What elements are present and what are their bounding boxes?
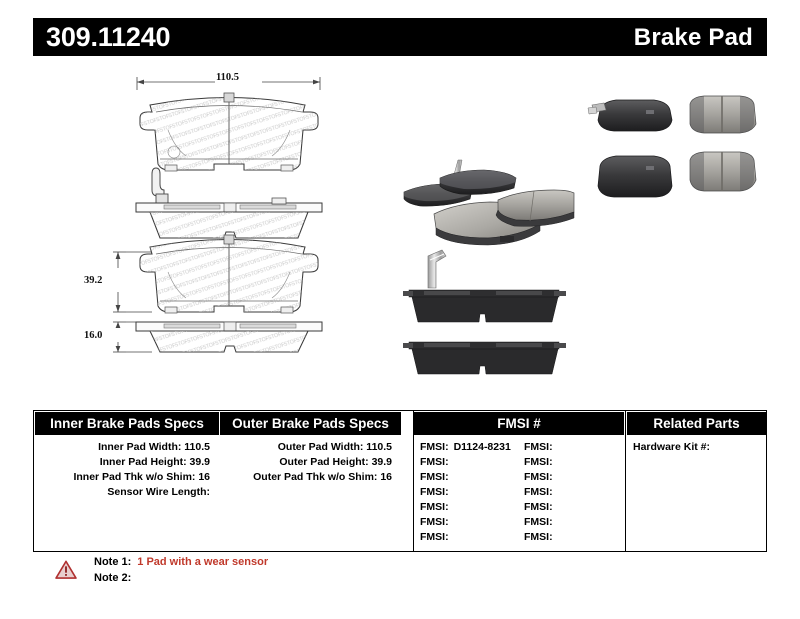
header-bar: 309.11240 Brake Pad <box>33 18 767 56</box>
table-header-inner: Inner Brake Pads Specs <box>35 412 219 435</box>
fmsi-label: FMSI: <box>420 486 449 498</box>
fmsi-row: FMSI: <box>524 471 558 483</box>
fmsi-row: FMSI: <box>420 516 454 528</box>
fmsi-label: FMSI: <box>420 531 449 543</box>
fmsi-label: FMSI: <box>420 501 449 513</box>
note-2: Note 2: <box>94 572 137 584</box>
table-divider-1 <box>413 411 414 551</box>
part-number: 309.11240 <box>46 22 170 53</box>
note-2-label: Note 2: <box>94 572 131 584</box>
fmsi-row: FMSI: <box>524 441 558 453</box>
dimension-height-label: 39.2 <box>84 275 102 286</box>
fmsi-label: FMSI: <box>420 471 449 483</box>
inner-pad-width: Inner Pad Width: 110.5 <box>98 441 210 453</box>
table-header-outer: Outer Brake Pads Specs <box>220 412 401 435</box>
drawings-svg: STOPTECH <box>0 60 800 405</box>
fmsi-row: FMSI: <box>524 531 558 543</box>
fmsi-label: FMSI: <box>524 441 553 453</box>
fmsi-label: FMSI: <box>524 456 553 468</box>
fmsi-row: FMSI: <box>420 531 454 543</box>
pad-plan-view-drawing <box>137 77 320 171</box>
specs-table: Inner Brake Pads Specs Outer Brake Pads … <box>33 410 767 552</box>
dimension-thickness-label: 16.0 <box>84 330 102 341</box>
fmsi-row: FMSI: <box>524 516 558 528</box>
pad-edge-view-sensor-drawing <box>136 168 322 238</box>
inner-pad-thickness: Inner Pad Thk w/o Shim: 16 <box>73 471 210 483</box>
fmsi-row: FMSI: <box>524 501 558 513</box>
fmsi-label: FMSI: <box>420 516 449 528</box>
note-1-label: Note 1: <box>94 556 131 568</box>
fmsi-row: FMSI:D1124-8231 <box>420 441 511 453</box>
drawings-area: STOPTECH <box>0 60 800 405</box>
fmsi-label: FMSI: <box>524 516 553 528</box>
fmsi-row: FMSI: <box>524 486 558 498</box>
product-photo-side-view <box>403 250 566 374</box>
warning-triangle-icon <box>55 560 77 579</box>
fmsi-row: FMSI: <box>420 486 454 498</box>
fmsi-label: FMSI: <box>420 441 449 453</box>
fmsi-row: FMSI: <box>420 456 454 468</box>
fmsi-row: FMSI: <box>524 456 558 468</box>
pad-edge-view-thickness-drawing <box>113 322 322 352</box>
outer-pad-thickness: Outer Pad Thk w/o Shim: 16 <box>253 471 392 483</box>
fmsi-label: FMSI: <box>524 531 553 543</box>
table-header-related-parts: Related Parts <box>627 412 766 435</box>
outer-pad-height: Outer Pad Height: 39.9 <box>279 456 392 468</box>
product-photo-perspective <box>404 160 574 245</box>
table-divider-2 <box>625 411 626 551</box>
fmsi-value: D1124-8231 <box>454 441 511 453</box>
product-photo-grid <box>588 96 756 197</box>
note-1: Note 1:1 Pad with a wear sensor <box>94 556 268 568</box>
fmsi-label: FMSI: <box>420 456 449 468</box>
pad-plan-view-height-drawing <box>113 235 318 313</box>
fmsi-label: FMSI: <box>524 471 553 483</box>
sensor-wire-length: Sensor Wire Length: <box>107 486 210 498</box>
inner-pad-height: Inner Pad Height: 39.9 <box>100 456 210 468</box>
fmsi-row: FMSI: <box>420 501 454 513</box>
outer-pad-width: Outer Pad Width: 110.5 <box>278 441 392 453</box>
fmsi-label: FMSI: <box>524 501 553 513</box>
dimension-width-label: 110.5 <box>216 72 239 83</box>
spec-sheet-page: 309.11240 Brake Pad STOPTECH <box>0 0 800 619</box>
table-header-fmsi: FMSI # <box>414 412 624 435</box>
note-1-value: 1 Pad with a wear sensor <box>137 556 268 568</box>
fmsi-row: FMSI: <box>420 471 454 483</box>
product-type: Brake Pad <box>634 24 753 52</box>
hardware-kit-number: Hardware Kit #: <box>633 441 710 453</box>
fmsi-label: FMSI: <box>524 486 553 498</box>
